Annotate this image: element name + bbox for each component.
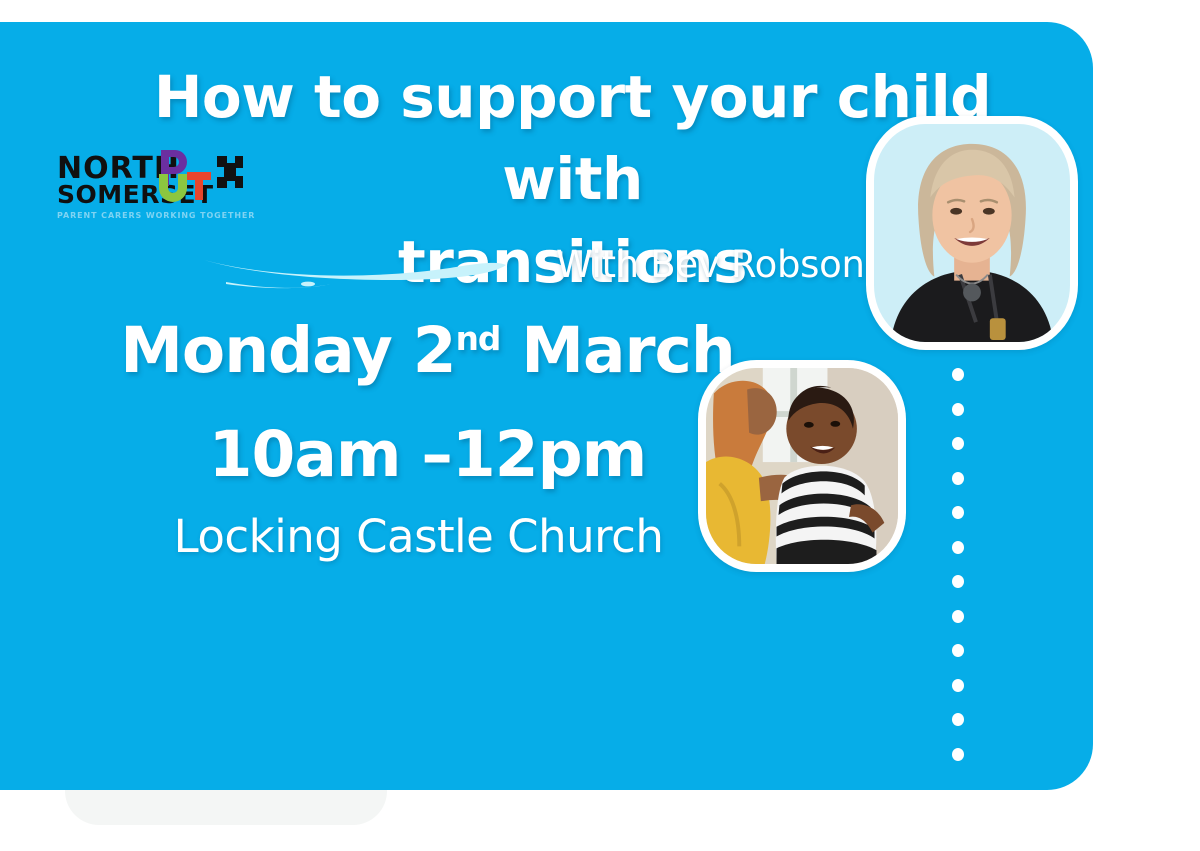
trail-dot — [952, 748, 964, 761]
event-date-prefix: Monday 2 — [120, 314, 455, 387]
trail-dot — [952, 679, 964, 692]
trail-dot — [952, 437, 964, 450]
trail-dot — [952, 403, 964, 416]
speaker-portrait-image — [874, 124, 1070, 342]
trail-dot — [952, 575, 964, 588]
dotted-trail-decoration — [952, 368, 970, 778]
parent-and-child-photo — [698, 360, 906, 572]
trail-dot — [952, 506, 964, 519]
parent-and-child-image — [706, 368, 898, 564]
trail-dot — [952, 644, 964, 657]
poster-canvas: How to support your child with transitio… — [0, 0, 1200, 851]
event-date-suffix: March — [500, 314, 734, 387]
speaker-portrait-photo — [866, 116, 1078, 350]
event-date-ordinal: nd — [456, 320, 501, 358]
trail-dot — [952, 541, 964, 554]
logo-tagline: PARENT CARERS WORKING TOGETHER — [57, 211, 237, 220]
swoosh-decoration-icon — [200, 244, 510, 292]
organisation-logo: NORTH SOMERSET PARENT CARERS WORKING TOG… — [57, 155, 237, 237]
trail-dot — [952, 368, 964, 381]
trail-dot — [952, 713, 964, 726]
trail-dot — [952, 472, 964, 485]
trail-dot — [952, 610, 964, 623]
pwt-gear-logo-icon — [157, 148, 243, 210]
presenter-name: With Bev Robson — [556, 243, 865, 286]
